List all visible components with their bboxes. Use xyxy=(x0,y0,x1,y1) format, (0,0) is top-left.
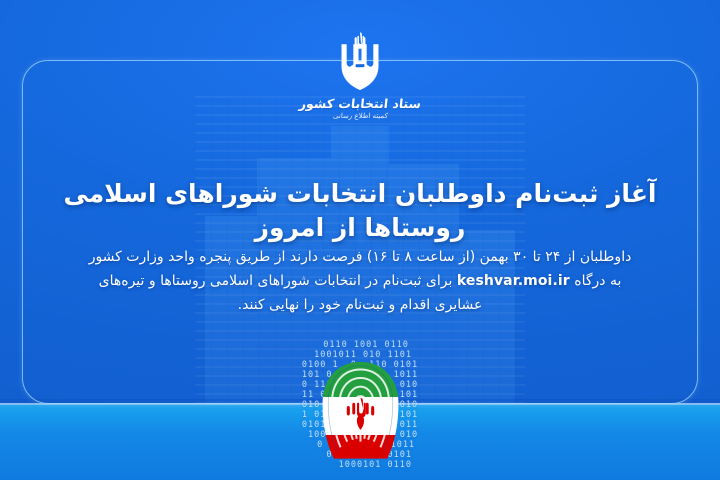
body-line-2: به درگاه keshvar.moi.ir برای ثبت‌نام در … xyxy=(36,269,684,293)
body-line-3: عشایری اقدام و ثبت‌نام خود را نهایی کنند… xyxy=(36,293,684,317)
body-line-2-prefix: به درگاه xyxy=(574,273,621,289)
body-paragraph: داوطلبان از ۲۴ تا ۳۰ بهمن (از ساعت ۸ تا … xyxy=(0,245,720,317)
logo-caption-primary: ستاد انتخابات کشور xyxy=(298,98,421,111)
logo-caption-secondary: کمیته اطلاع رسانی xyxy=(332,113,388,120)
iran-election-headquarters-emblem-icon xyxy=(323,22,397,96)
fingerprint-iran-flag-icon xyxy=(313,360,408,472)
organization-logo: ستاد انتخابات کشور کمیته اطلاع رسانی xyxy=(0,22,720,120)
election-announcement-poster: ستاد انتخابات کشور کمیته اطلاع رسانی آغا… xyxy=(0,0,720,480)
headline-title: آغاز ثبت‌نام داوطلبان انتخابات شوراهای ا… xyxy=(0,177,720,245)
body-line-1: داوطلبان از ۲۴ تا ۳۰ بهمن (از ساعت ۸ تا … xyxy=(36,245,684,269)
fingerprint-emblem: 0110 1001 0110 1001011 010 1101 0100 1 0… xyxy=(285,346,435,478)
registration-portal-url[interactable]: keshvar.moi.ir xyxy=(457,269,570,293)
body-line-2-suffix: برای ثبت‌نام در انتخابات شوراهای اسلامی … xyxy=(99,273,453,289)
